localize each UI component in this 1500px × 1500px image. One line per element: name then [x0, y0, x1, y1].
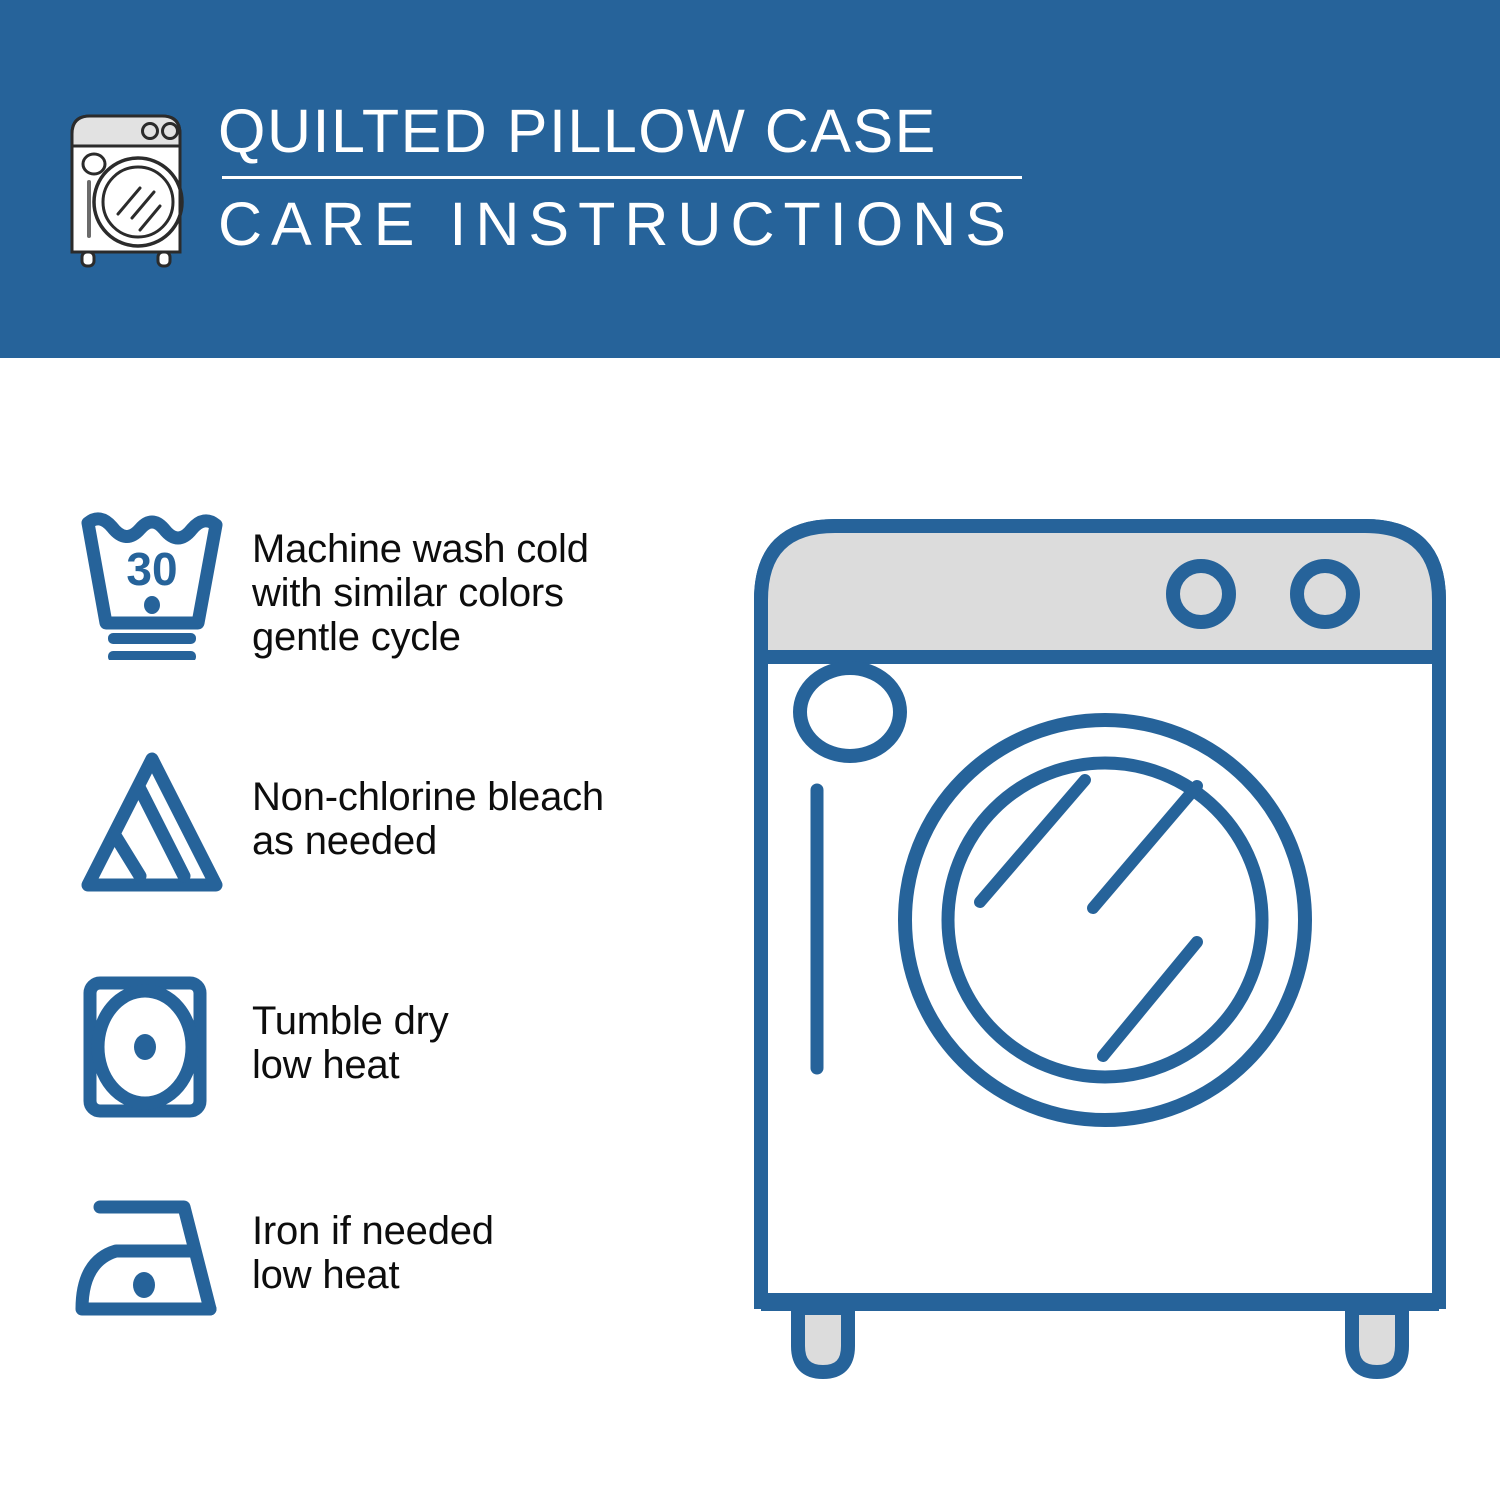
- leg-left: [798, 1308, 848, 1372]
- header-titles: QUILTED PILLOW CASE CARE INSTRUCTIONS: [218, 98, 1062, 257]
- care-text-line: as needed: [252, 819, 712, 863]
- wash-temp-label: 30: [126, 543, 177, 595]
- tumble-dry-low-heat-icon: [72, 949, 232, 1131]
- wash-tub-30-gentle-icon: 30: [72, 505, 232, 665]
- care-instructions-list: 30 Machine wash cold with similar colors…: [72, 505, 712, 1359]
- care-text-line: Iron if needed: [252, 1209, 712, 1253]
- leg-right: [1352, 1308, 1402, 1372]
- care-text-line: low heat: [252, 1043, 712, 1087]
- care-text-line: Tumble dry: [252, 999, 712, 1043]
- care-text-line: low heat: [252, 1253, 712, 1297]
- care-instruction-text-bleach: Non-chlorine bleach as needed: [252, 727, 712, 863]
- care-instruction-text-wash: Machine wash cold with similar colors ge…: [252, 505, 712, 659]
- header-content: QUILTED PILLOW CASE CARE INSTRUCTIONS: [62, 98, 1062, 278]
- control-panel: [761, 526, 1439, 657]
- non-chlorine-bleach-triangle-icon: [72, 727, 232, 905]
- washing-machine-icon: [62, 104, 190, 269]
- care-instruction-row-bleach: Non-chlorine bleach as needed: [72, 727, 712, 949]
- care-text-line: gentle cycle: [252, 615, 712, 659]
- care-instruction-row-wash: 30 Machine wash cold with similar colors…: [72, 505, 712, 727]
- care-instruction-text-iron: Iron if needed low heat: [252, 1159, 712, 1297]
- page-title: QUILTED PILLOW CASE: [218, 98, 1062, 164]
- care-instruction-row-tumble-dry: Tumble dry low heat: [72, 949, 712, 1159]
- iron-low-heat-icon: [72, 1159, 232, 1349]
- care-instruction-row-iron: Iron if needed low heat: [72, 1159, 712, 1359]
- front-load-washing-machine-illustration: [735, 490, 1465, 1420]
- care-text-line: with similar colors: [252, 571, 712, 615]
- header-band: QUILTED PILLOW CASE CARE INSTRUCTIONS: [0, 0, 1500, 358]
- page-subtitle: CARE INSTRUCTIONS: [218, 191, 1062, 257]
- header-divider: [222, 176, 1022, 179]
- care-instruction-text-tumble-dry: Tumble dry low heat: [252, 949, 712, 1087]
- care-text-line: Machine wash cold: [252, 527, 712, 571]
- care-text-line: Non-chlorine bleach: [252, 775, 712, 819]
